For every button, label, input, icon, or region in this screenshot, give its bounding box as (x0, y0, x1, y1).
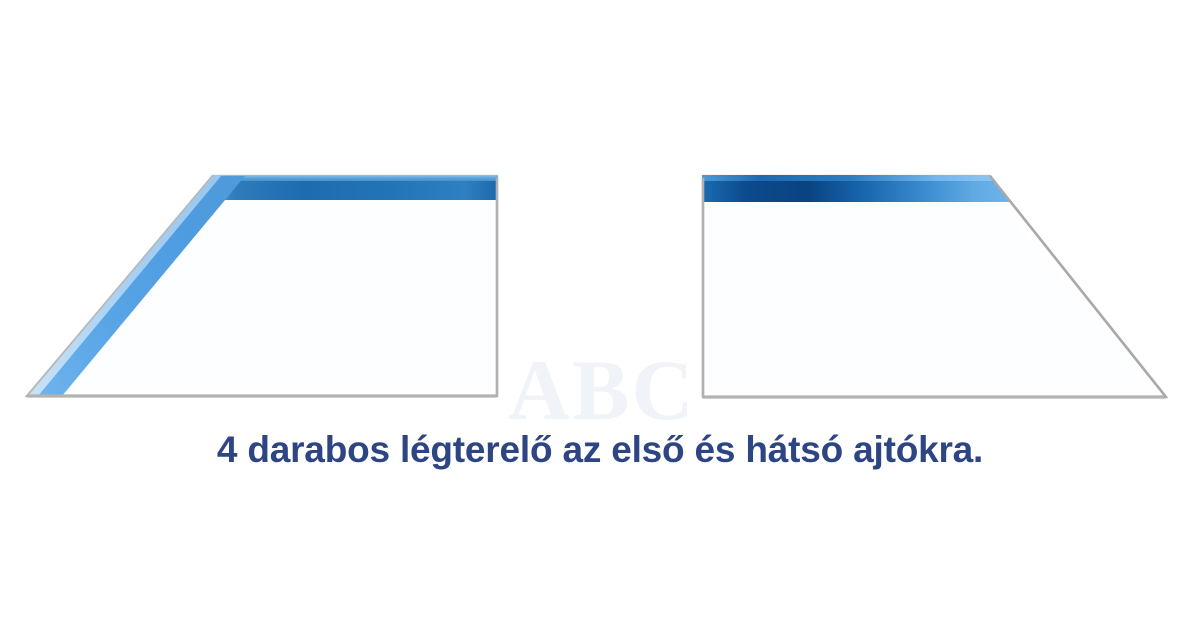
front-deflector-sheen (33, 200, 495, 393)
rear-deflector-top-band-highlight (702, 175, 996, 182)
front-deflector-top-band (212, 181, 498, 200)
product-illustration (0, 0, 1200, 630)
rear-deflector-top-band (702, 181, 1010, 202)
rear-deflector-sheen (706, 204, 1160, 394)
front-door-deflector (27, 175, 498, 396)
front-deflector-top-band-highlight (212, 175, 498, 182)
product-caption: 4 darabos légterelő az első és hátsó ajt… (0, 428, 1200, 472)
rear-door-deflector (702, 175, 1166, 397)
